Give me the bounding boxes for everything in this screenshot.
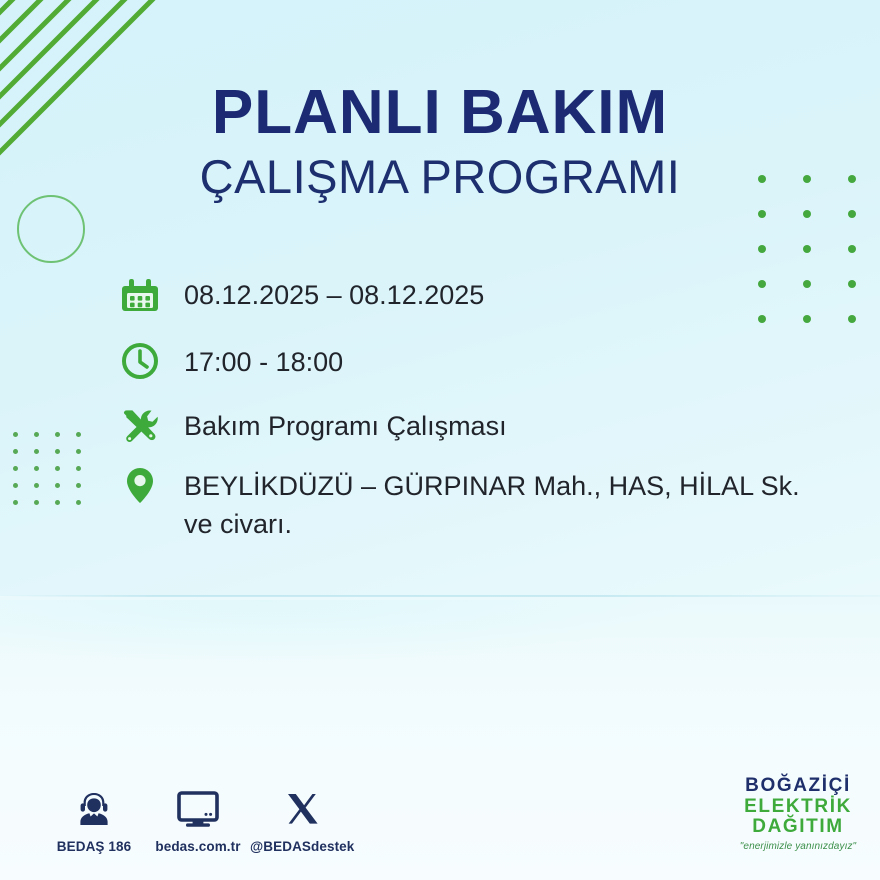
contact-x-label: @BEDASdestek [250, 839, 354, 854]
bottom-sheen [0, 600, 880, 720]
dot-grid-decoration-left [13, 432, 97, 517]
detail-worktype-text: Bakım Programı Çalışması [184, 403, 507, 445]
x-twitter-icon [250, 786, 354, 832]
detail-row-worktype: Bakım Programı Çalışması [118, 403, 848, 447]
logo-tagline: "enerjimizle yanınızdayız" [733, 841, 863, 852]
contact-website[interactable]: bedas.com.tr [146, 786, 250, 854]
contact-phone[interactable]: BEDAŞ 186 [42, 786, 146, 854]
detail-row-location: BEYLİKDÜZÜ – GÜRPINAR Mah., HAS, HİLAL S… [118, 463, 848, 544]
detail-location-text: BEYLİKDÜZÜ – GÜRPINAR Mah., HAS, HİLAL S… [184, 463, 824, 544]
support-agent-icon [42, 786, 146, 832]
footer-contacts: BEDAŞ 186 bedas.com.tr [42, 786, 354, 854]
contact-website-label: bedas.com.tr [146, 839, 250, 854]
monitor-icon [146, 786, 250, 832]
calendar-icon [118, 272, 162, 316]
maintenance-details: 08.12.2025 – 08.12.2025 17:00 - 18:00 [118, 272, 848, 565]
circle-outline-decoration [17, 195, 85, 263]
detail-time-text: 17:00 - 18:00 [184, 339, 343, 381]
clock-icon [118, 339, 162, 383]
detail-row-date: 08.12.2025 – 08.12.2025 [118, 272, 848, 316]
tools-icon [118, 403, 162, 447]
page-title: PLANLI BAKIM ÇALIŞMA PROGRAMI [0, 82, 880, 201]
logo-line-1: BOĞAZİÇİ [733, 776, 863, 797]
detail-date-text: 08.12.2025 – 08.12.2025 [184, 272, 484, 314]
detail-row-time: 17:00 - 18:00 [118, 339, 848, 383]
title-main: PLANLI BAKIM [0, 82, 880, 144]
brand-logo: BOĞAZİÇİ ELEKTRİK DAĞITIM "enerjimizle y… [733, 776, 863, 852]
location-pin-icon [118, 463, 162, 507]
title-subtitle: ÇALIŞMA PROGRAMI [0, 152, 880, 201]
contact-x-account[interactable]: @BEDASdestek [250, 786, 354, 854]
logo-line-2: ELEKTRİK [733, 797, 863, 818]
contact-phone-label: BEDAŞ 186 [42, 839, 146, 854]
planned-maintenance-poster: PLANLI BAKIM ÇALIŞMA PROGRAMI [0, 0, 880, 880]
logo-line-3: DAĞITIM [733, 817, 863, 838]
